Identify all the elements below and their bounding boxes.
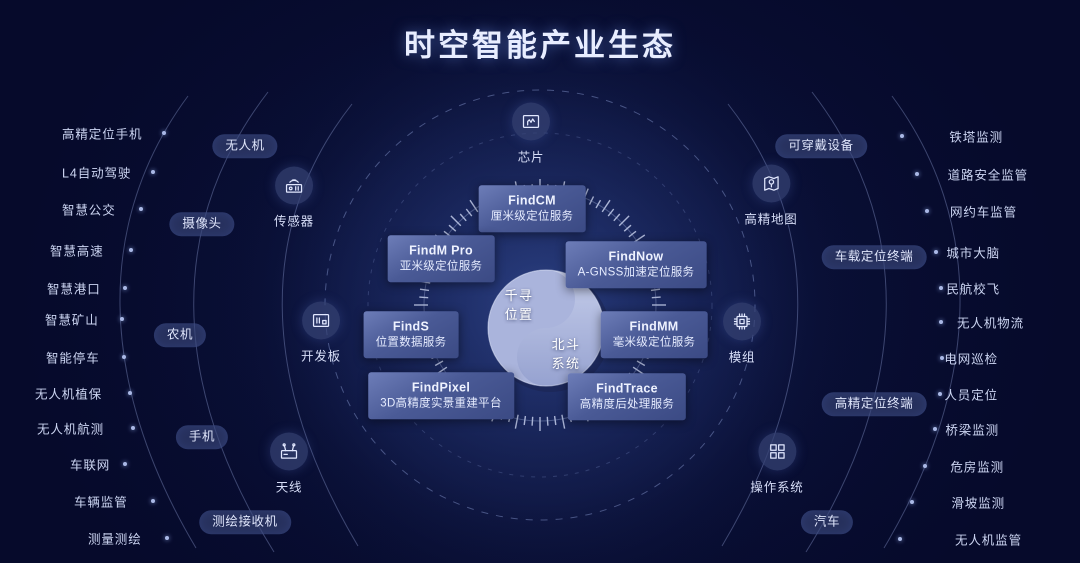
application-label[interactable]: 人员定位 <box>944 385 998 404</box>
leaf-dot <box>123 286 127 290</box>
application-label[interactable]: 城市大脑 <box>946 243 1000 262</box>
leaf-dot <box>910 500 914 504</box>
application-label[interactable]: 无人机物流 <box>957 313 1024 332</box>
application-label[interactable]: 无人机航测 <box>37 419 104 438</box>
category-pill[interactable]: 农机 <box>154 323 206 347</box>
leaf-dot <box>923 464 927 468</box>
product-name: FindM Pro <box>400 242 483 259</box>
product-box-findpixel[interactable]: FindPixel 3D高精度实景重建平台 <box>368 372 514 419</box>
application-label[interactable]: 铁塔监测 <box>949 127 1003 146</box>
leaf-dot <box>128 391 132 395</box>
product-desc: 亚米级定位服务 <box>400 259 483 275</box>
product-desc: 厘米级定位服务 <box>491 209 574 225</box>
product-desc: 位置数据服务 <box>376 335 447 351</box>
icon-node-label: 天线 <box>276 477 303 496</box>
icon-node-antenna[interactable]: 天线 <box>270 433 308 496</box>
product-desc: 3D高精度实景重建平台 <box>380 396 502 412</box>
icon-node-label: 模组 <box>729 347 756 366</box>
icon-node-board[interactable]: 开发板 <box>301 302 341 365</box>
sensor-icon <box>275 167 313 205</box>
product-box-findtrace[interactable]: FindTrace 高精度后处理服务 <box>568 373 686 420</box>
application-label[interactable]: 车联网 <box>70 455 110 474</box>
icon-node-label: 开发板 <box>301 346 341 365</box>
application-label[interactable]: 智能停车 <box>46 348 100 367</box>
application-label[interactable]: 电网巡检 <box>944 349 998 368</box>
category-pill[interactable]: 车载定位终端 <box>822 245 927 269</box>
leaf-dot <box>939 286 943 290</box>
leaf-dot <box>123 462 127 466</box>
category-pill[interactable]: 手机 <box>176 425 228 449</box>
category-pill[interactable]: 高精定位终端 <box>822 392 927 416</box>
map-icon <box>752 165 790 203</box>
leaf-dot <box>120 317 124 321</box>
product-box-findm pro[interactable]: FindM Pro 亚米级定位服务 <box>388 235 495 282</box>
product-name: FindS <box>376 318 447 335</box>
application-label[interactable]: 滑坡监测 <box>951 493 1005 512</box>
leaf-dot <box>898 537 902 541</box>
application-label[interactable]: 智慧港口 <box>47 279 101 298</box>
icon-node-label: 传感器 <box>274 211 314 230</box>
application-label[interactable]: 测量测绘 <box>88 529 142 548</box>
product-name: FindCM <box>491 192 574 209</box>
product-desc: 毫米级定位服务 <box>613 335 696 351</box>
product-box-findcm[interactable]: FindCM 厘米级定位服务 <box>479 185 586 232</box>
leaf-dot <box>940 356 944 360</box>
icon-node-grid[interactable]: 操作系统 <box>750 433 803 496</box>
application-label[interactable]: 桥梁监测 <box>945 420 999 439</box>
devboard-icon <box>302 302 340 340</box>
icon-node-map-pin[interactable]: 高精地图 <box>744 165 797 228</box>
category-pill[interactable]: 摄像头 <box>169 212 234 236</box>
application-label[interactable]: 智慧矿山 <box>45 310 99 329</box>
leaf-dot <box>915 172 919 176</box>
leaf-dot <box>139 207 143 211</box>
category-pill[interactable]: 汽车 <box>801 510 853 534</box>
category-pill[interactable]: 可穿戴设备 <box>775 134 867 158</box>
product-desc: 高精度后处理服务 <box>580 397 674 413</box>
application-label[interactable]: 高精定位手机 <box>62 124 142 143</box>
leaf-dot <box>151 499 155 503</box>
application-label[interactable]: L4自动驾驶 <box>62 163 131 182</box>
icon-node-label: 操作系统 <box>750 477 803 496</box>
product-name: FindNow <box>578 248 695 265</box>
orbit-arcs-layer <box>0 0 1080 563</box>
category-pill[interactable]: 无人机 <box>212 134 277 158</box>
leaf-dot <box>900 134 904 138</box>
icon-node-label: 高精地图 <box>744 209 797 228</box>
application-label[interactable]: 智慧公交 <box>62 200 116 219</box>
leaf-dot <box>151 170 155 174</box>
application-label[interactable]: 道路安全监管 <box>948 165 1028 184</box>
application-label[interactable]: 无人机植保 <box>35 384 102 403</box>
leaf-dot <box>933 427 937 431</box>
application-label[interactable]: 危房监测 <box>950 457 1004 476</box>
icon-node-chip[interactable]: 芯片 <box>512 103 550 166</box>
icon-node-label: 芯片 <box>518 147 545 166</box>
application-label[interactable]: 网约车监管 <box>950 202 1017 221</box>
leaf-dot <box>129 248 133 252</box>
leaf-dot <box>939 320 943 324</box>
antenna-icon <box>270 433 308 471</box>
product-name: FindMM <box>613 318 696 335</box>
leaf-dot <box>122 355 126 359</box>
leaf-dot <box>934 250 938 254</box>
module-icon <box>723 303 761 341</box>
chip-icon <box>512 103 550 141</box>
application-label[interactable]: 智慧高速 <box>50 241 104 260</box>
category-pill[interactable]: 测绘接收机 <box>199 510 291 534</box>
product-desc: A-GNSS加速定位服务 <box>578 265 695 281</box>
product-name: FindPixel <box>380 379 502 396</box>
page-title: 时空智能产业生态 <box>0 20 1080 65</box>
leaf-dot <box>131 426 135 430</box>
os-icon <box>758 433 796 471</box>
leaf-dot <box>165 536 169 540</box>
application-label[interactable]: 车辆监管 <box>74 492 128 511</box>
leaf-dot <box>925 209 929 213</box>
icon-node-module[interactable]: 模组 <box>723 303 761 366</box>
application-label[interactable]: 民航校飞 <box>946 279 1000 298</box>
application-label[interactable]: 无人机监管 <box>955 530 1022 549</box>
icon-node-sensor[interactable]: 传感器 <box>274 167 314 230</box>
product-name: FindTrace <box>580 380 674 397</box>
ecosystem-infographic: 时空智能产业生态 千寻位置 北斗系统 FindCM 厘米级定位服务 FindM … <box>0 0 1080 563</box>
product-box-findmm[interactable]: FindMM 毫米级定位服务 <box>601 311 708 358</box>
product-box-finds[interactable]: FindS 位置数据服务 <box>364 311 459 358</box>
product-box-findnow[interactable]: FindNow A-GNSS加速定位服务 <box>566 241 707 288</box>
leaf-dot <box>162 131 166 135</box>
leaf-dot <box>938 392 942 396</box>
